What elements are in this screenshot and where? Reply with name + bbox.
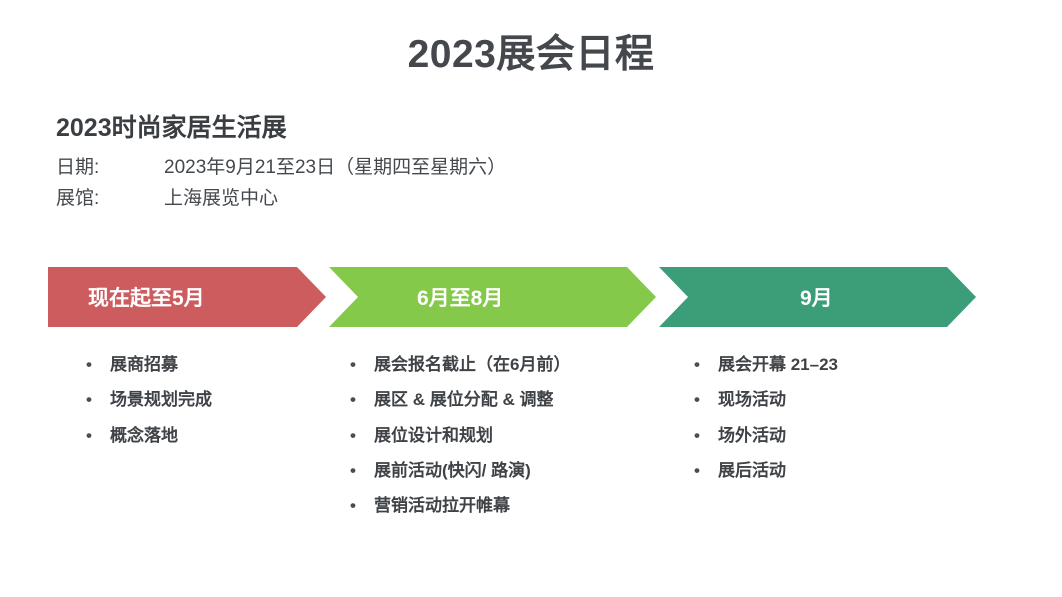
list-item: • 场景规划完成 — [86, 387, 212, 413]
list-item-label: 概念落地 — [110, 423, 178, 449]
bullet-dot-icon: • — [350, 387, 374, 413]
bullet-dot-icon: • — [350, 423, 374, 449]
list-item: • 展会报名截止（在6月前） — [350, 352, 570, 378]
list-item: • 展后活动 — [694, 458, 838, 484]
bullet-dot-icon: • — [86, 352, 110, 378]
list-item: • 概念落地 — [86, 423, 212, 449]
list-item-label: 展后活动 — [718, 458, 786, 484]
event-venue-label: 展馆: — [56, 183, 164, 214]
list-item-label: 展区 & 展位分配 & 调整 — [374, 387, 553, 413]
list-item: • 展商招募 — [86, 352, 212, 378]
list-item: • 展区 & 展位分配 & 调整 — [350, 387, 570, 413]
bullet-dot-icon: • — [86, 387, 110, 413]
list-item-label: 展会开幕 21–23 — [718, 352, 838, 378]
list-item: • 现场活动 — [694, 387, 838, 413]
bullet-dot-icon: • — [694, 387, 718, 413]
event-venue-value: 上海展览中心 — [164, 183, 278, 214]
phase-chevron-2-label: 6月至8月 — [417, 282, 503, 312]
bullet-dot-icon: • — [350, 493, 374, 519]
list-item: • 营销活动拉开帷幕 — [350, 493, 570, 519]
phase-column-2: • 展会报名截止（在6月前） • 展区 & 展位分配 & 调整 • 展位设计和规… — [350, 352, 570, 529]
event-date-label: 日期: — [56, 152, 164, 183]
list-item: • 展前活动(快闪/ 路演) — [350, 458, 570, 484]
event-info-block: 2023时尚家居生活展 日期: 2023年9月21至23日（星期四至星期六） 展… — [56, 112, 506, 214]
list-item-label: 现场活动 — [718, 387, 786, 413]
list-item-label: 场外活动 — [718, 423, 786, 449]
phase-chevron-3: 9月 — [659, 267, 976, 327]
timeline-columns: • 展商招募 • 场景规划完成 • 概念落地 • 展会报名截止（在6月前） • … — [0, 352, 1062, 552]
list-item-label: 展前活动(快闪/ 路演) — [374, 458, 531, 484]
bullet-dot-icon: • — [694, 458, 718, 484]
phase-chevron-2: 6月至8月 — [329, 267, 656, 327]
event-name: 2023时尚家居生活展 — [56, 112, 506, 145]
phase-chevron-3-label: 9月 — [800, 282, 833, 312]
phase-chevron-1-label: 现在起至5月 — [88, 282, 205, 312]
page-title: 2023展会日程 — [0, 32, 1062, 79]
bullet-dot-icon: • — [694, 352, 718, 378]
list-item: • 展位设计和规划 — [350, 423, 570, 449]
bullet-dot-icon: • — [350, 458, 374, 484]
event-date-row: 日期: 2023年9月21至23日（星期四至星期六） — [56, 152, 506, 183]
bullet-dot-icon: • — [694, 423, 718, 449]
phase-column-1: • 展商招募 • 场景规划完成 • 概念落地 — [86, 352, 212, 458]
phase-column-3: • 展会开幕 21–23 • 现场活动 • 场外活动 • 展后活动 — [694, 352, 838, 493]
event-venue-row: 展馆: 上海展览中心 — [56, 183, 506, 214]
bullet-dot-icon: • — [350, 352, 374, 378]
timeline-phase-banner: 现在起至5月 6月至8月 9月 — [48, 267, 976, 327]
list-item: • 场外活动 — [694, 423, 838, 449]
list-item-label: 营销活动拉开帷幕 — [374, 493, 510, 519]
list-item-label: 展商招募 — [110, 352, 178, 378]
bullet-dot-icon: • — [86, 423, 110, 449]
list-item-label: 展会报名截止（在6月前） — [374, 352, 570, 378]
event-date-value: 2023年9月21至23日（星期四至星期六） — [164, 152, 506, 183]
list-item-label: 展位设计和规划 — [374, 423, 493, 449]
list-item: • 展会开幕 21–23 — [694, 352, 838, 378]
list-item-label: 场景规划完成 — [110, 387, 212, 413]
phase-chevron-1: 现在起至5月 — [48, 267, 326, 327]
